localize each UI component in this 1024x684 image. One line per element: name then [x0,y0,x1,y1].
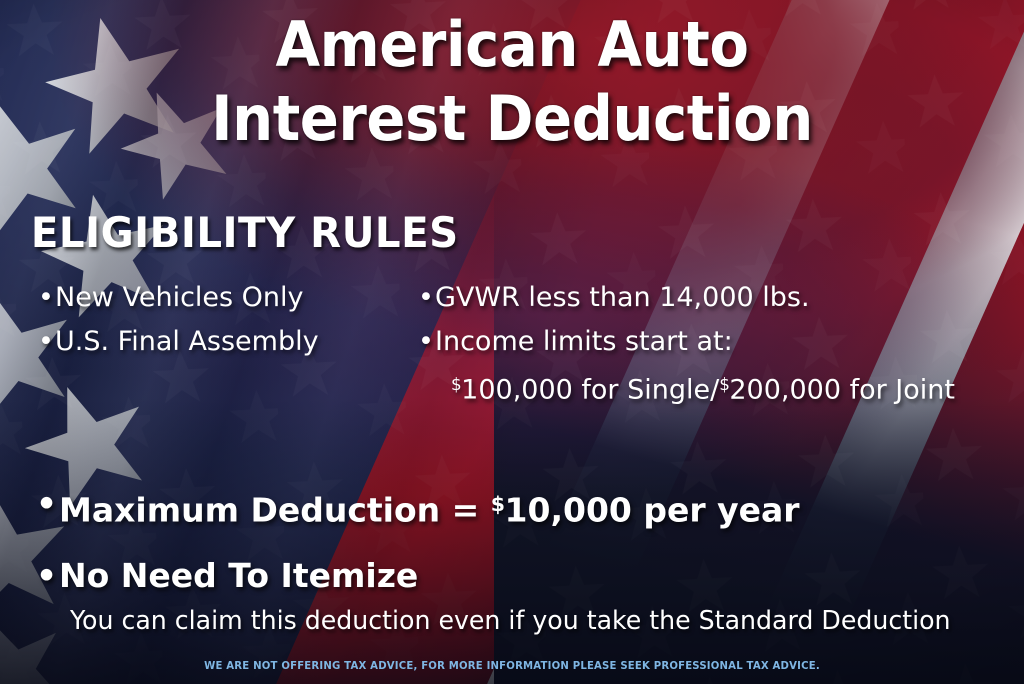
income-amount-joint: 200,000 [729,375,841,406]
currency-symbol: $ [719,374,729,394]
title-line-1: American Auto [36,8,988,82]
list-item: • Income limits start at: [418,320,1018,364]
section-heading-eligibility: ELIGIBILITY RULES [31,210,459,256]
no-itemize-note: You can claim this deduction even if you… [70,604,968,638]
income-amount-single: 100,000 [461,375,573,406]
bullet-dot-icon: • [36,482,59,526]
eligibility-left-column: • New Vehicles Only • U.S. Final Assembl… [38,276,398,364]
page-title: American Auto Interest Deduction [36,8,988,156]
list-item: • U.S. Final Assembly [38,320,398,364]
list-item-label: U.S. Final Assembly [55,320,319,364]
eligibility-right-column: • GVWR less than 14,000 lbs. • Income li… [418,276,1018,411]
infographic-slide: American Auto Interest Deduction ELIGIBI… [0,0,1024,684]
disclaimer-text: WE ARE NOT OFFERING TAX ADVICE, FOR MORE… [41,659,983,672]
max-deduction-amount: 10,000 [505,491,632,530]
bullet-dot-icon: • [418,320,435,364]
currency-symbol: $ [451,374,461,394]
list-item-label: Income limits start at: [435,320,733,364]
max-deduction-prefix: Maximum Deduction = [59,491,491,530]
income-filer-joint: for Joint [841,375,955,406]
list-item-label: GVWR less than 14,000 lbs. [435,276,810,320]
key-point-max-deduction: • Maximum Deduction = $10,000 per year [36,482,996,533]
slide-content: American Auto Interest Deduction ELIGIBI… [0,0,1024,684]
bullet-dot-icon: • [38,276,55,320]
title-line-2: Interest Deduction [36,82,988,156]
key-point-text: Maximum Deduction = $10,000 per year [59,482,800,533]
key-point-no-itemize: • No Need To Itemize [36,554,996,598]
bullet-dot-icon: • [36,554,59,598]
currency-symbol: $ [491,492,505,516]
list-item: • New Vehicles Only [38,276,398,320]
max-deduction-suffix: per year [632,491,800,530]
list-item-label: New Vehicles Only [55,276,304,320]
key-points-list: • Maximum Deduction = $10,000 per year •… [36,482,996,638]
bullet-dot-icon: • [38,320,55,364]
key-point-text: No Need To Itemize [59,554,418,598]
list-item: • GVWR less than 14,000 lbs. [418,276,1018,320]
bullet-dot-icon: • [418,276,435,320]
income-limit-detail: $100,000 for Single/$200,000 for Joint [418,364,1018,411]
income-filer-single: for Single/ [573,375,719,406]
